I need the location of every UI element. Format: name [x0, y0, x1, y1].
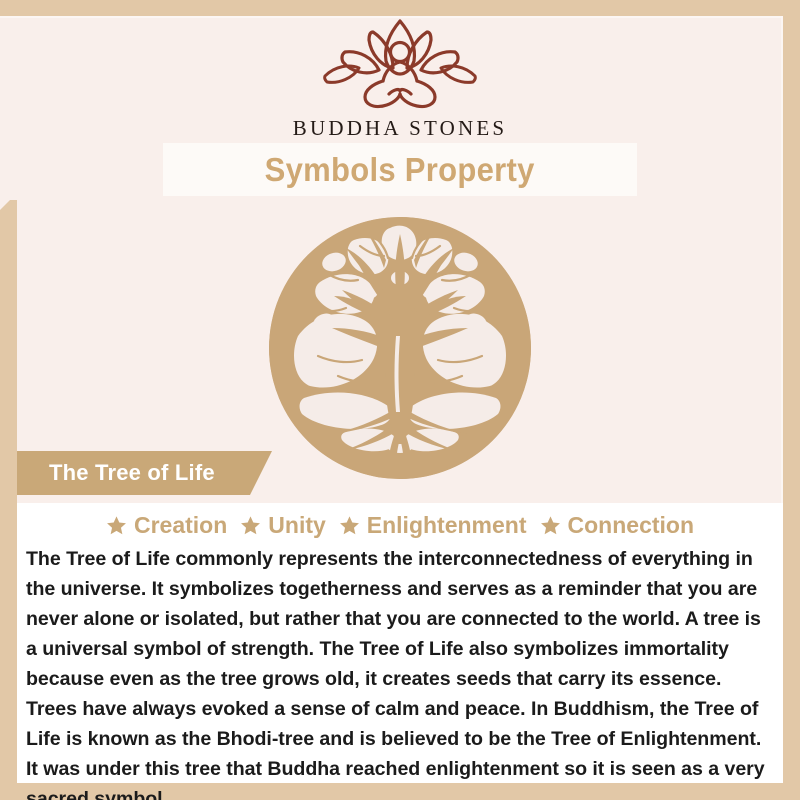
keyword-label: Enlightenment	[367, 512, 527, 539]
keyword-unity: Unity	[240, 512, 326, 539]
description-paragraph: The Tree of Life commonly represents the…	[26, 544, 774, 800]
tree-of-life-illustration	[268, 216, 532, 480]
infographic-poster: BUDDHA STONES Symbols Property	[0, 0, 800, 800]
star-icon	[106, 515, 127, 536]
frame-border-top	[0, 0, 800, 16]
brand-logo-block: BUDDHA STONES	[0, 18, 800, 141]
keyword-label: Connection	[568, 512, 695, 539]
frame-border-left	[0, 200, 17, 800]
section-label-text: The Tree of Life	[49, 460, 215, 486]
keyword-enlightenment: Enlightenment	[339, 512, 527, 539]
star-icon	[540, 515, 561, 536]
keyword-label: Unity	[268, 512, 326, 539]
title-band: Symbols Property	[163, 143, 637, 196]
keyword-row: Creation Unity Enlightenment Connection	[17, 503, 783, 539]
page-title: Symbols Property	[265, 151, 535, 189]
brand-name: BUDDHA STONES	[0, 116, 800, 141]
tree-of-life-icon	[268, 216, 532, 480]
keyword-connection: Connection	[540, 512, 695, 539]
keyword-creation: Creation	[106, 512, 227, 539]
content-card: Creation Unity Enlightenment Connection	[17, 503, 783, 783]
star-icon	[240, 515, 261, 536]
section-label-banner: The Tree of Life	[17, 451, 272, 495]
keyword-label: Creation	[134, 512, 227, 539]
star-icon	[339, 515, 360, 536]
lotus-meditation-figure-icon	[315, 18, 485, 114]
